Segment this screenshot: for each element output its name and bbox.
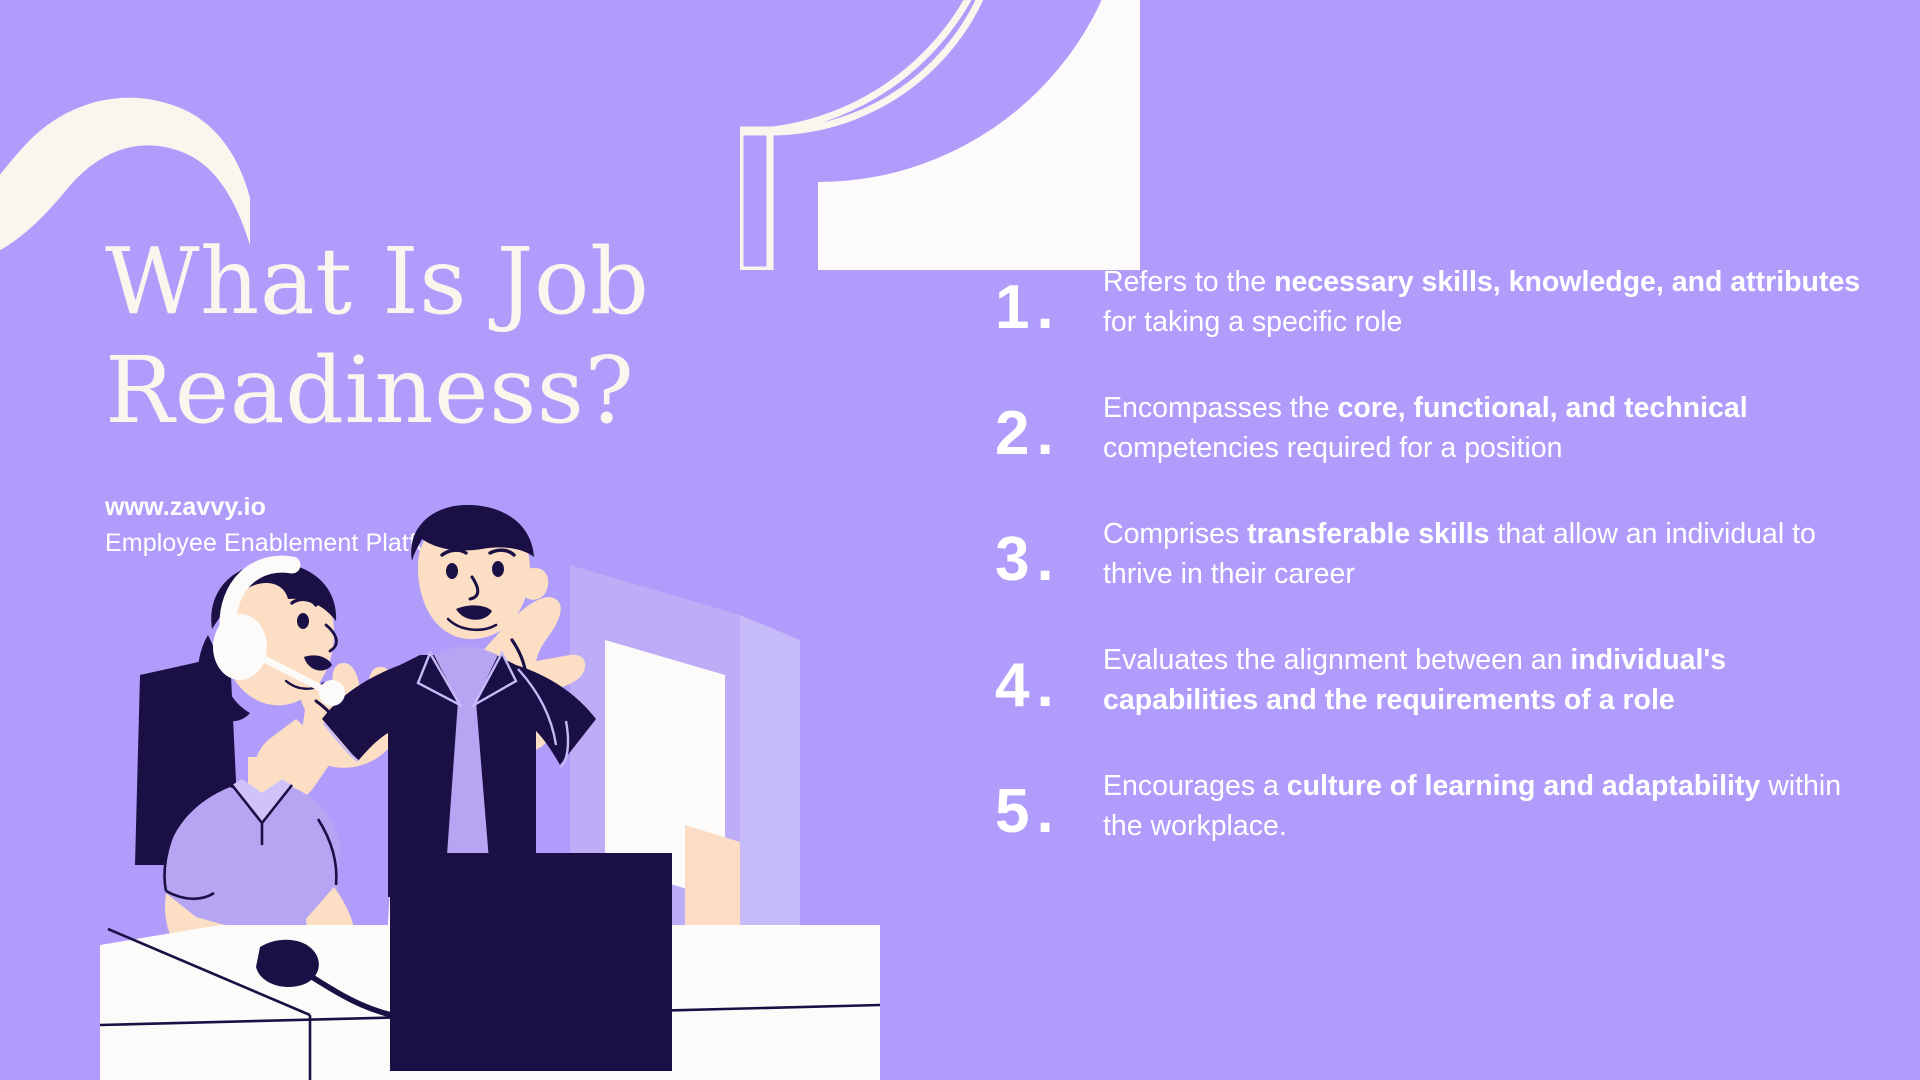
- brand-url[interactable]: www.zavvy.io: [105, 489, 825, 525]
- wall-panel: [570, 565, 800, 1025]
- page-title: What Is Job Readiness?: [105, 228, 825, 445]
- standing-man-waving: [254, 505, 596, 955]
- monitor: [390, 853, 672, 1071]
- woman-with-headset: [165, 563, 357, 980]
- list-item-text: Encourages a culture of learning and ada…: [1103, 762, 1875, 847]
- brand-tagline: Employee Enablement Platform: [105, 525, 825, 561]
- list-item: 3. Comprises transferable skills that al…: [995, 510, 1875, 595]
- list-item: 4. Evaluates the alignment between an in…: [995, 636, 1875, 721]
- office-illustration: [100, 505, 930, 1080]
- left-column: What Is Job Readiness? www.zavvy.io Empl…: [105, 228, 825, 562]
- list-item: 5. Encourages a culture of learning and …: [995, 762, 1875, 847]
- list-item-number: 4.: [995, 636, 1103, 717]
- page-title-line-1: What Is Job: [105, 228, 649, 335]
- list-item-number: 5.: [995, 762, 1103, 843]
- brand-block: www.zavvy.io Employee Enablement Platfor…: [105, 489, 825, 562]
- list-item-text: Refers to the necessary skills, knowledg…: [1103, 258, 1875, 343]
- list-item-text: Encompasses the core, functional, and te…: [1103, 384, 1875, 469]
- desk: [100, 925, 880, 1080]
- office-chair: [135, 655, 240, 865]
- infographic-canvas: What Is Job Readiness? www.zavvy.io Empl…: [0, 0, 1920, 1080]
- wave-shape-top-left: [0, 30, 340, 250]
- page-title-line-2: Readiness?: [105, 337, 634, 444]
- list-item-text: Evaluates the alignment between an indiv…: [1103, 636, 1875, 721]
- list-item-number: 1.: [995, 258, 1103, 339]
- list-item: 1. Refers to the necessary skills, knowl…: [995, 258, 1875, 343]
- list-item-text: Comprises transferable skills that allow…: [1103, 510, 1875, 595]
- computer-mouse: [256, 940, 538, 1020]
- list-item: 2. Encompasses the core, functional, and…: [995, 384, 1875, 469]
- points-list: 1. Refers to the necessary skills, knowl…: [995, 258, 1875, 847]
- list-item-number: 2.: [995, 384, 1103, 465]
- list-item-number: 3.: [995, 510, 1103, 591]
